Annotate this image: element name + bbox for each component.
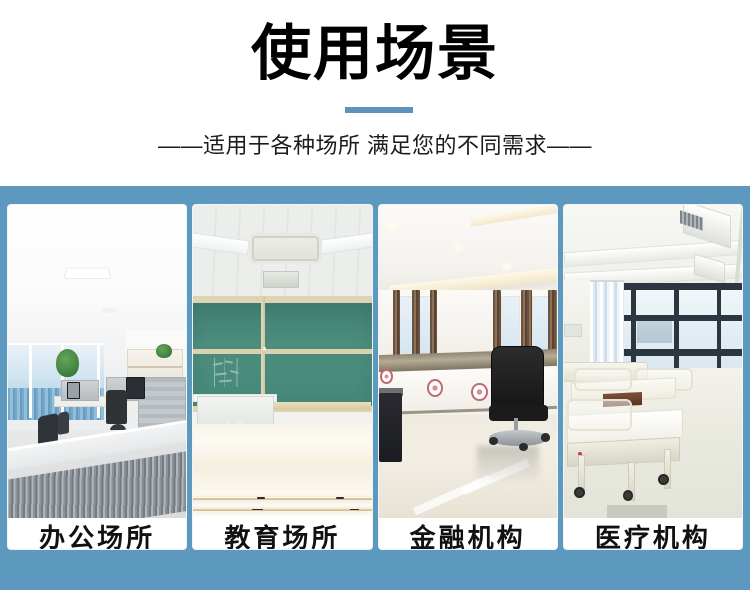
scenario-band: 办公场所 [0, 186, 750, 590]
office-chair-icon [106, 390, 127, 424]
window-frame [623, 283, 742, 290]
window-frame [623, 349, 742, 356]
tiered-desks [193, 424, 371, 518]
counter-emblem-icon [471, 383, 487, 401]
potted-plant-icon [56, 349, 79, 377]
scenario-label-education: 教育场所 [193, 518, 371, 549]
desk-fitting [336, 497, 344, 499]
floor-reflection [477, 446, 539, 484]
projector-icon [263, 271, 299, 289]
page-title: 使用场景 [0, 18, 750, 90]
counter-emblem-icon [427, 379, 443, 397]
bank-window [398, 296, 412, 354]
office-chair-icon [58, 411, 69, 435]
promo-page: 使用场景 ——适用于各种场所 满足您的不同需求—— [0, 0, 750, 590]
window-frame [631, 283, 635, 368]
chalkboard-divider [193, 349, 371, 354]
window-frame [674, 283, 678, 368]
bed-caster [658, 474, 669, 485]
scenario-label-finance: 金融机构 [379, 518, 557, 549]
scenario-label-office: 办公场所 [8, 518, 186, 549]
classroom-photo [193, 205, 371, 518]
bed-caster [574, 487, 585, 498]
outside-building [637, 318, 673, 343]
scenario-card-medical[interactable]: 医疗机构 [564, 205, 742, 549]
header-section: 使用场景 ——适用于各种场所 满足您的不同需求—— [0, 0, 750, 186]
office-chair-icon [491, 346, 545, 414]
desk-edge [193, 509, 371, 511]
wall-mounted-unit [564, 324, 582, 337]
window-frame [623, 315, 742, 322]
scenario-card-office[interactable]: 办公场所 [8, 205, 186, 549]
ceiling-vent-icon [249, 233, 323, 264]
desk-fitting [350, 509, 359, 511]
office-chair-base [489, 430, 548, 446]
curtain [393, 290, 400, 359]
scenario-card-education[interactable]: 教育场所 [193, 205, 371, 549]
window-frame [717, 283, 721, 368]
title-divider [345, 107, 413, 113]
hospital-photo [564, 205, 742, 518]
curtain [430, 290, 437, 359]
chair-caster [541, 433, 550, 441]
ceiling-panel-light-icon [64, 268, 112, 279]
chalk-trough [272, 402, 372, 410]
office-photo [8, 205, 186, 518]
floor-mat [607, 505, 668, 518]
scenario-label-medical: 医疗机构 [564, 518, 742, 549]
scenario-card-list: 办公场所 [8, 205, 742, 549]
window-mullion [29, 343, 32, 418]
curtain [412, 290, 420, 359]
chalk-writing [211, 358, 250, 386]
bank-photo [379, 205, 557, 518]
bed-caster [623, 490, 634, 501]
potted-plant-icon [156, 344, 172, 358]
dark-cabinet [379, 393, 402, 462]
monitor-icon [126, 377, 146, 399]
chair-caster [489, 437, 498, 445]
scenario-card-finance[interactable]: 金融机构 [379, 205, 557, 549]
shelf-line [128, 366, 181, 368]
desk-fitting [252, 509, 263, 511]
desk-fitting [257, 497, 265, 499]
bed-side-rail [574, 368, 631, 391]
page-subtitle: ——适用于各种场所 满足您的不同需求—— [0, 130, 750, 162]
desk-edge [193, 498, 371, 500]
bed-side-rail [567, 399, 632, 431]
monitor-icon [67, 382, 80, 400]
